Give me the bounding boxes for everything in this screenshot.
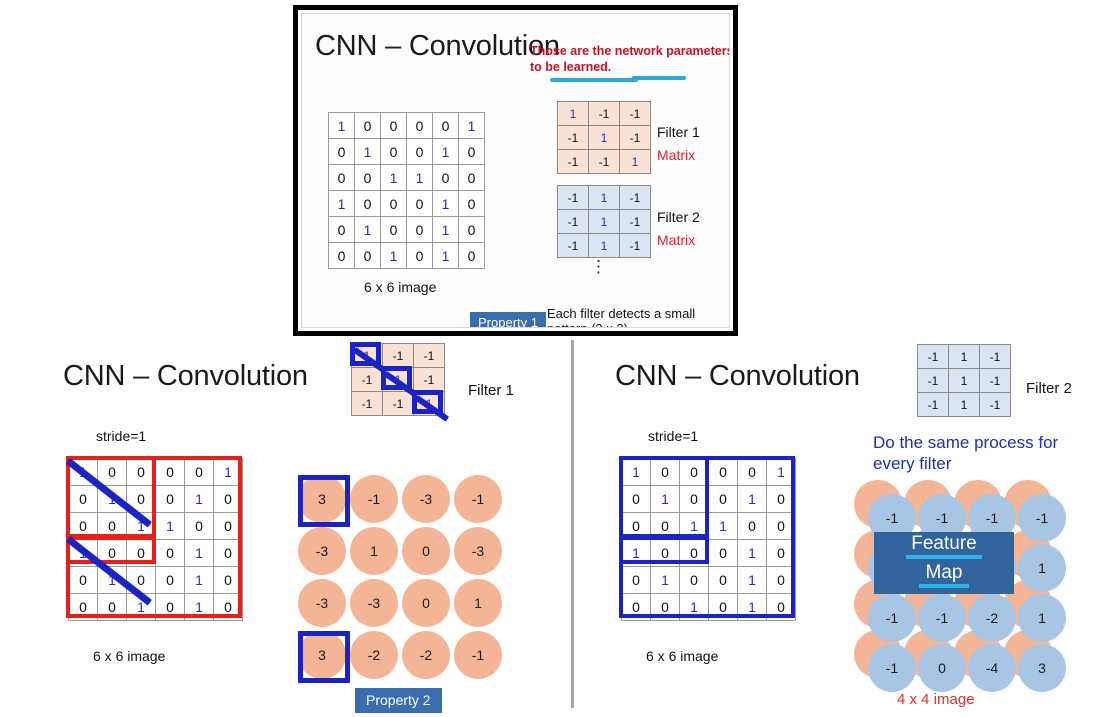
matrix-cell-2-2: 1 [620, 150, 651, 174]
feature-map-cell-0-1: -1 [350, 475, 398, 523]
matrix-cell-1-3: 0 [407, 139, 433, 165]
matrix-cell-0-0: -1 [558, 186, 589, 210]
matrix-cell-0-2: -1 [620, 186, 651, 210]
matrix-row: 100010 [329, 191, 485, 217]
feature-map-cell-3-1: -2 [350, 631, 398, 679]
top-filter1-grid: 1-1-1-11-1-1-11 [557, 101, 651, 174]
feature-map-cell-2-0: -3 [298, 579, 346, 627]
matrix-cell-1-2: -1 [620, 126, 651, 150]
left-filter1: 1-1-1-11-1-1-11 [351, 343, 445, 416]
filter-diag-marker-2 [412, 390, 443, 414]
feature-map-cell-1-1: 1 [350, 527, 398, 575]
callout-rule-2 [919, 584, 969, 588]
matrix-cell-1-4: 1 [433, 139, 459, 165]
feature-map-cell-2-3: 1 [1018, 594, 1066, 642]
matrix-cell-2-1: -1 [589, 150, 620, 174]
matrix-cell-4-3: 0 [407, 217, 433, 243]
right-image-matrix: 100001010010001100100010010010001010 [621, 458, 796, 621]
feature-map-cell-2-1: -3 [350, 579, 398, 627]
matrix-cell-2-0: -1 [558, 150, 589, 174]
top-slide-content: CNN – Convolution Those are the network … [301, 13, 730, 328]
matrix-cell-1-0: -1 [918, 369, 949, 393]
matrix-row: -11-1 [918, 393, 1011, 417]
feature-map-callout-line1: Feature [911, 534, 976, 553]
feature-map-cell-3-3: -1 [454, 631, 502, 679]
matrix-cell-0-4: 0 [433, 113, 459, 139]
matrix-cell-4-1: 1 [355, 217, 381, 243]
right-panel: CNN – Convolution stride=1 -11-1-11-1-11… [574, 340, 1114, 717]
matrix-cell-2-2: -1 [620, 234, 651, 258]
network-parameters-note: Those are the network parameters to be l… [530, 44, 730, 75]
matrix-cell-4-0: 0 [329, 217, 355, 243]
feature-map-selection-bottom [298, 631, 350, 683]
matrix-cell-2-0: -1 [558, 234, 589, 258]
matrix-row: 001010 [329, 243, 485, 269]
matrix-cell-3-2: 0 [381, 191, 407, 217]
right-filter2-name: Filter 2 [1026, 380, 1072, 397]
matrix-cell-0-2: -1 [980, 345, 1011, 369]
matrix-cell-4-2: 0 [381, 217, 407, 243]
matrix-cell-2-0: -1 [918, 393, 949, 417]
matrix-cell-2-5: 0 [459, 165, 485, 191]
right-image-caption: 6 x 6 image [646, 648, 718, 664]
filter-diag-marker-1 [381, 366, 412, 390]
receptive-field-blue-bottom [619, 534, 709, 564]
property-2-badge: Property 2 [355, 688, 442, 713]
left-stride-label: stride=1 [96, 428, 146, 444]
top-image-caption: 6 x 6 image [364, 279, 436, 295]
feature-map-cell-3-2: -4 [968, 644, 1016, 692]
right-filter2-grid: -11-1-11-1-11-1 [917, 344, 1011, 417]
left-panel-title: CNN – Convolution [63, 360, 308, 393]
matrix-cell-1-0: -1 [352, 368, 383, 392]
feature-map-cell-3-1: 0 [918, 644, 966, 692]
matrix-cell-1-5: 0 [459, 139, 485, 165]
matrix-row: 001100 [329, 165, 485, 191]
property-1-badge: Property 1 [470, 312, 546, 328]
matrix-row: 010010 [329, 139, 485, 165]
feature-map-cell-3-3: 3 [1018, 644, 1066, 692]
top-image-matrix: 100001010010001100100010010010001010 [328, 112, 485, 269]
matrix-cell-2-1: -1 [383, 392, 414, 416]
left-filter1-name: Filter 1 [468, 382, 514, 399]
cyan-underline-decoration [550, 78, 638, 82]
matrix-cell-1-2: -1 [414, 368, 445, 392]
matrix-row: 010010 [329, 217, 485, 243]
matrix-row: -1-11 [558, 150, 651, 174]
cyan-underline-decoration-2 [632, 76, 686, 80]
feature-map-cell-3-2: -2 [402, 631, 450, 679]
matrix-cell-2-4: 0 [433, 165, 459, 191]
matrix-cell-1-1: 1 [589, 210, 620, 234]
matrix-cell-3-5: 0 [459, 191, 485, 217]
matrix-cell-0-1: -1 [383, 344, 414, 368]
feature-map-callout: Feature Map [874, 532, 1014, 594]
matrix-cell-2-1: 1 [949, 393, 980, 417]
matrix-row: -11-1 [558, 210, 651, 234]
matrix-cell-0-2: -1 [620, 102, 651, 126]
matrix-cell-2-1: 1 [589, 234, 620, 258]
right-instruction-text: Do the same process for every filter [873, 432, 1098, 475]
left-panel: CNN – Convolution stride=1 1-1-1-11-1-1-… [0, 340, 571, 717]
matrix-cell-5-4: 1 [433, 243, 459, 269]
feature-map-cell-0-3: -1 [1018, 494, 1066, 542]
matrix-row: 100001 [329, 113, 485, 139]
matrix-cell-1-2: 0 [381, 139, 407, 165]
left-feature-map: 3-1-3-1-310-3-3-3013-2-2-1 [298, 475, 510, 687]
matrix-cell-2-0: -1 [352, 392, 383, 416]
matrix-cell-0-2: 0 [381, 113, 407, 139]
feature-map-cell-3-0: -1 [868, 644, 916, 692]
matrix-cell-5-5: 0 [459, 243, 485, 269]
matrix-row: -11-1 [918, 345, 1011, 369]
matrix-row: -11-1 [558, 186, 651, 210]
left-image-caption: 6 x 6 image [93, 648, 165, 664]
matrix-cell-0-2: -1 [414, 344, 445, 368]
receptive-field-blue-top [619, 456, 709, 540]
matrix-cell-0-1: 0 [355, 113, 381, 139]
top-slide-title: CNN – Convolution [315, 30, 560, 63]
matrix-cell-4-4: 1 [433, 217, 459, 243]
matrix-cell-0-0: 1 [329, 113, 355, 139]
matrix-row: -11-1 [558, 126, 651, 150]
matrix-cell-2-0: 0 [329, 165, 355, 191]
matrix-cell-0-1: -1 [589, 102, 620, 126]
feature-map-cell-0-3: -1 [454, 475, 502, 523]
matrix-cell-1-2: -1 [980, 369, 1011, 393]
matrix-cell-1-2: -1 [620, 210, 651, 234]
matrix-cell-0-0: 1 [558, 102, 589, 126]
matrix-cell-1-1: 1 [949, 369, 980, 393]
right-stride-label: stride=1 [648, 428, 698, 444]
feature-map-cell-2-0: -1 [868, 594, 916, 642]
feature-map-callout-line2: Map [926, 563, 963, 582]
matrix-cell-0-0: -1 [918, 345, 949, 369]
feature-map-cell-0-2: -3 [402, 475, 450, 523]
matrix-cell-2-3: 1 [407, 165, 433, 191]
matrix-cell-0-1: 1 [949, 345, 980, 369]
matrix-cell-2-2: 1 [381, 165, 407, 191]
feature-map-cell-2-1: -1 [918, 594, 966, 642]
matrix-cell-3-0: 1 [329, 191, 355, 217]
feature-map-cell-1-3: 1 [1018, 544, 1066, 592]
top-filter1-kind: Matrix [657, 147, 695, 163]
matrix-cell-1-1: 1 [589, 126, 620, 150]
vertical-ellipsis-icon: ⋮ [590, 264, 604, 269]
matrix-row: 1-1-1 [558, 102, 651, 126]
matrix-cell-3-1: 0 [355, 191, 381, 217]
matrix-row: -11-1 [558, 234, 651, 258]
matrix-cell-0-5: 1 [459, 113, 485, 139]
top-filter2-kind: Matrix [657, 232, 695, 248]
matrix-cell-3-4: 1 [433, 191, 459, 217]
right-filter2: -11-1-11-1-11-1 [917, 344, 1011, 417]
top-filter1-name: Filter 1 [657, 124, 700, 140]
feature-map-cell-1-0: -3 [298, 527, 346, 575]
matrix-cell-4-5: 0 [459, 217, 485, 243]
matrix-cell-3-3: 0 [407, 191, 433, 217]
matrix-cell-1-0: -1 [558, 210, 589, 234]
right-output-caption: 4 x 4 image [897, 691, 975, 708]
matrix-cell-1-0: -1 [558, 126, 589, 150]
matrix-cell-1-0: 0 [329, 139, 355, 165]
feature-map-cell-1-2: 0 [402, 527, 450, 575]
right-feature-map-stack: -1-1-1-1-1-1-21-1-1-21-10-43 Feature Map [854, 480, 1089, 685]
matrix-cell-5-1: 0 [355, 243, 381, 269]
top-filter2-matrix: -11-1-11-1-11-1 [557, 185, 651, 258]
callout-rule-1 [906, 555, 982, 559]
feature-map-cell-1-3: -3 [454, 527, 502, 575]
feature-map-selection-top [298, 475, 350, 527]
top-filter2-grid: -11-1-11-1-11-1 [557, 185, 651, 258]
top-slide-panel: CNN – Convolution Those are the network … [293, 5, 738, 336]
top-image-grid: 100001010010001100100010010010001010 [328, 112, 485, 269]
feature-map-cell-2-3: 1 [454, 579, 502, 627]
matrix-cell-2-1: 0 [355, 165, 381, 191]
top-filter1-matrix: 1-1-1-11-1-1-11 [557, 101, 651, 174]
right-panel-title: CNN – Convolution [615, 360, 860, 393]
feature-map-cell-2-2: -2 [968, 594, 1016, 642]
left-image-matrix: 100001010010001100100010010010001010 [68, 458, 243, 621]
top-filter2-name: Filter 2 [657, 209, 700, 225]
matrix-cell-5-0: 0 [329, 243, 355, 269]
filter-diag-marker-0 [350, 342, 381, 366]
matrix-cell-5-2: 1 [381, 243, 407, 269]
matrix-cell-2-2: -1 [980, 393, 1011, 417]
feature-map-cell-2-2: 0 [402, 579, 450, 627]
property-1-text: Each filter detects a small pattern (3 x… [547, 307, 730, 328]
matrix-cell-0-1: 1 [589, 186, 620, 210]
matrix-cell-5-3: 0 [407, 243, 433, 269]
matrix-row: -11-1 [918, 369, 1011, 393]
matrix-cell-0-3: 0 [407, 113, 433, 139]
matrix-cell-1-1: 1 [355, 139, 381, 165]
